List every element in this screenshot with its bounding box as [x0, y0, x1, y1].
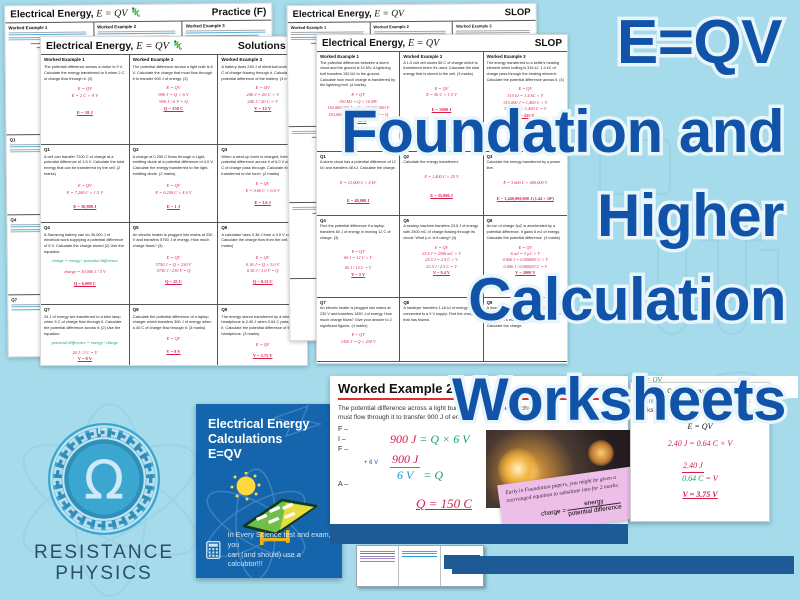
working-line: 60 J = 12 C × V	[320, 255, 396, 261]
worked-example-label: Worked Example 2	[133, 57, 215, 64]
crocodile-icon: 🦎	[130, 7, 141, 18]
working-line: E = QV	[133, 183, 215, 190]
question-text: An electric heater is plugged into mains…	[320, 306, 396, 329]
question-cell: Q7 24 J of energy are transferred to a b…	[41, 305, 130, 366]
question-label: Q5	[133, 225, 215, 232]
working-line: E = QV	[44, 86, 126, 93]
working-line: 5750 J / 230 V = Q	[133, 268, 215, 275]
worked-example-label: Worked Example 2	[403, 54, 479, 61]
answer: V = 8 V	[44, 356, 126, 363]
worksheet-grid: Worked Example 1 The potential differenc…	[41, 54, 307, 366]
question-text: A charge of 0.250 C flows through a Ligh…	[133, 154, 215, 177]
answer: Q = 25 C	[133, 279, 215, 286]
question-cell: Q5 An electric heater is plugged into ma…	[130, 223, 219, 305]
title-line-eqv: E=QV	[617, 14, 782, 71]
worksheet-title: Electrical Energy, E = QV 🦎	[46, 40, 183, 52]
working-line: E = 7,200 C × 1.5 V	[44, 190, 126, 197]
answer: Q = 6,000 C	[44, 281, 126, 288]
working-line: E = QV	[403, 86, 479, 93]
working-line: 900 J = Q × 6 V	[133, 92, 215, 99]
worked-example-label: Worked Example 1	[291, 24, 367, 30]
question-text: A Samsung battery can do 30,000 J of ele…	[44, 232, 126, 255]
svg-text:Ω: Ω	[84, 450, 125, 512]
calculator-icon	[206, 540, 221, 560]
question-text: 24 J of energy are transferred to a bike…	[44, 314, 126, 337]
question-cell: Q8 Calculate the potential difference of…	[130, 305, 219, 366]
worked-example-label: Worked Example 3	[456, 23, 533, 29]
sun-icon	[231, 472, 261, 501]
worked-example-text: The potential difference across a light …	[133, 64, 215, 82]
working-line: 900 J / 6 V = Q	[133, 99, 215, 106]
question-cell: Q7 An electric heater is plugged into ma…	[317, 298, 400, 362]
fraction-numerator: 900 J	[390, 452, 420, 468]
answer: E = 10,800 J	[44, 204, 126, 211]
worked-example-answer: Q = 150 C	[416, 496, 472, 512]
voltage-label-left: + 6 V	[364, 460, 378, 466]
brand-logo[interactable]: Ω RESISTANCE PHYSICS	[16, 420, 192, 585]
answer: Q = 150 C	[133, 106, 215, 113]
worksheet-title: Electrical Energy, E = QV	[322, 38, 439, 49]
bottom-bar-secondary	[452, 556, 794, 574]
working-line: E = QV	[487, 86, 564, 93]
promo-card[interactable]: Electrical Energy Calculations E=QV	[196, 404, 342, 578]
question-text: An ion of charge 3µC is accelerated by a…	[487, 224, 564, 241]
title-line-calculation: Calculation	[468, 272, 786, 327]
calculator-note-text: In Every Science test and exam, you can …	[228, 530, 334, 569]
brand-name-line1: RESISTANCE	[16, 542, 192, 563]
working-line: E = 1,400 C × 25 V	[403, 174, 479, 180]
answer: E = 1 J	[133, 204, 215, 211]
worked-example-cell: Worked Example 1 The potential differenc…	[41, 55, 130, 145]
worked-example-label: Worked Example 1	[44, 57, 126, 64]
energy-value: 900 J	[390, 432, 416, 446]
title-line-higher: Higher	[597, 188, 784, 243]
question-label: Q4	[44, 225, 126, 232]
brand-name: RESISTANCE PHYSICS	[16, 542, 192, 585]
bottom-bar-primary	[330, 524, 628, 544]
working-line: E = QV	[44, 183, 126, 190]
question-text: An electric heater is plugged into mains…	[133, 232, 215, 250]
working-line: E = 3,600 C × 400,000 V	[487, 180, 564, 186]
working-line: charge = 30,000 J / 5 V	[44, 269, 126, 276]
worked-example-text: The energy transferred to a kettle's hea…	[487, 61, 564, 84]
thumbnail-column	[399, 546, 441, 586]
working-line: E = QV	[221, 342, 304, 349]
fraction-denominator: 6 V	[390, 468, 420, 483]
title-line-worksheets: Worksheets	[452, 372, 786, 427]
worked-example-label: Worked Example 1	[320, 54, 396, 61]
working-line: 5750 J = Q × 230 V	[133, 262, 215, 269]
worked-example-text: The potential difference between a storm…	[320, 61, 396, 89]
worked-example-label: Worked Example 1	[8, 25, 90, 31]
worked-example-label: Worked Example 3	[186, 23, 269, 29]
question-text: Find the potential difference if a lapto…	[320, 224, 396, 241]
answer: V = 9 V	[133, 349, 215, 356]
worked-example-label: Worked Example 2	[373, 24, 449, 30]
answer: V = 5 V	[320, 272, 396, 278]
worksheet-badge: SLOP	[505, 7, 531, 18]
question-cell: Q1 A cell can transfer 7200 C of charge …	[41, 145, 130, 223]
mini-answer: V = 3.75 V	[636, 489, 764, 501]
worked-example-cell: Worked Example 2 The potential differenc…	[130, 55, 219, 145]
worksheet-title: Electrical Energy, E = QV	[293, 8, 404, 20]
title-line-foundation: Foundation and	[341, 104, 784, 159]
working-line: E = QV	[133, 255, 215, 262]
working-line: E = 12,000 C × 4 kV	[320, 180, 396, 186]
working-line: E = 2 C × 9 V	[44, 93, 126, 100]
worksheet-badge: SLOP	[535, 38, 562, 49]
crocodile-icon: 🦎	[172, 40, 183, 51]
given-equation: potential difference = energy / charge	[44, 340, 126, 347]
worked-example-label: Worked Example 2	[97, 24, 179, 30]
question-text: A sewing machine transfers 23.5 J of ene…	[403, 224, 479, 241]
question-label: Q2	[133, 147, 215, 154]
question-label: Q7	[44, 307, 126, 314]
working-line: E = QV	[133, 85, 215, 92]
question-cell: Q2 A charge of 0.250 C flows through a L…	[130, 145, 219, 223]
calculator-note: In Every Science test and exam, you can …	[206, 530, 334, 569]
working-line: 1450 J = Q × 230 V	[320, 339, 396, 345]
equation-rest: = Q × 6 V	[419, 432, 469, 446]
worked-example-text: A 1.5 volt cell stores 56 C of charge wh…	[403, 61, 479, 78]
mini-working-3: 2.40 J 0.64 C = V	[636, 460, 764, 485]
question-label: Q8	[133, 307, 215, 314]
answer: E = 48,000 J	[320, 198, 396, 204]
worksheet-badge: Practice (F)	[212, 7, 267, 19]
bulb-glow-secondary	[588, 440, 614, 466]
worked-example-text: The potential difference across a motor …	[44, 64, 126, 82]
question-cell: Q4 A Samsung battery can do 30,000 J of …	[41, 223, 130, 305]
answer: E = 1,440,000,000 J (1.44 × 10⁹)	[487, 196, 564, 202]
worked-example-math: 900 J = Q × 6 V 900 J 6 V = Q	[390, 432, 470, 483]
thumbnail-column	[357, 546, 399, 586]
omega-ring-icon: Ω	[45, 420, 163, 538]
answer: V = 3.75 V	[221, 353, 304, 360]
question-text: A cell can transfer 7200 C of charge at …	[44, 154, 126, 177]
question-cell: Q4 Find the potential difference if a la…	[317, 216, 400, 298]
working-line: E = QV	[133, 336, 215, 343]
answer: E = 18 J	[44, 110, 126, 117]
question-label: Q1	[44, 147, 126, 154]
worksheet-header: Electrical Energy, E = QV SLOP	[317, 35, 567, 51]
worksheet-header: Electrical Energy, E = QV 🦎 Solutions (F…	[41, 37, 307, 54]
question-text: Calculate the potential difference of a …	[133, 314, 215, 332]
worksheet-title: Electrical Energy, E = QV 🦎	[10, 8, 141, 20]
answer: E = 35,000 J	[403, 193, 479, 199]
worksheet-solutions-f[interactable]: Electrical Energy, E = QV 🦎 Solutions (F…	[40, 36, 308, 366]
brand-name-line2: PHYSICS	[16, 563, 192, 584]
given-equation: charge = energy / potential difference	[44, 258, 126, 265]
worked-example-label: Worked Example 3	[487, 54, 564, 61]
fraction-equals: = Q	[423, 468, 443, 482]
working-line: E = 0.250 C × 4.0 V	[133, 190, 215, 197]
mini-working-2: 2.40 J = 0.64 C × V	[636, 438, 764, 450]
working-line: 24 J / 3 C = V	[44, 350, 126, 357]
